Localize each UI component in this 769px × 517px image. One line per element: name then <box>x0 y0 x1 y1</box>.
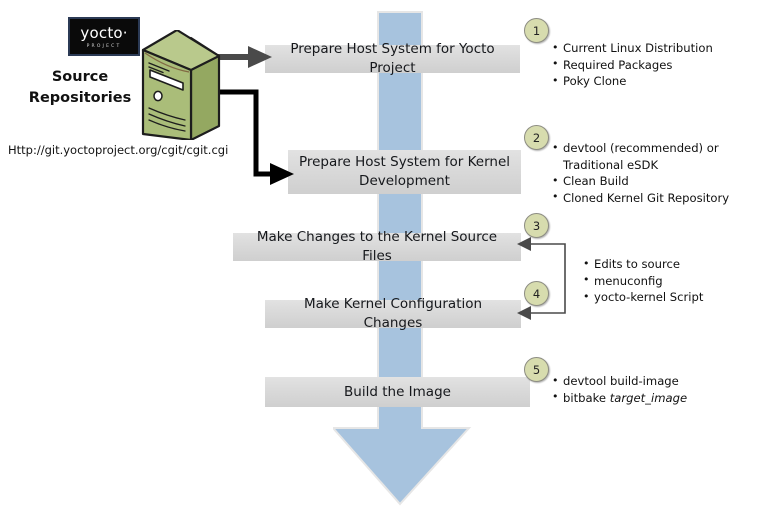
step-badge-5: 5 <box>524 357 549 382</box>
process-box-step-4[interactable]: Make Kernel Configuration Changes <box>265 300 521 328</box>
source-label-line2: Repositories <box>20 88 140 109</box>
bullet-list-step-2: devtool (recommended) or Traditional eSD… <box>552 140 757 206</box>
step-badge-3: 3 <box>524 213 549 238</box>
process-box-step-2[interactable]: Prepare Host System for Kernel Developme… <box>288 150 521 194</box>
step-badge-1: 1 <box>524 18 549 43</box>
yocto-project-logo: yocto · PROJECT <box>68 17 140 56</box>
process-box-step-5[interactable]: Build the Image <box>265 377 530 407</box>
logo-dot-icon: · <box>123 24 128 42</box>
list-item: yocto-kernel Script <box>583 289 748 306</box>
list-item: menuconfig <box>583 273 748 290</box>
source-label-line1: Source <box>20 67 140 88</box>
step-badge-4: 4 <box>524 281 549 306</box>
shared-bullets-bracket-connector <box>515 232 585 327</box>
server-tower-icon <box>133 30 225 140</box>
list-item: Clean Build <box>552 173 757 190</box>
list-item: devtool build-image <box>552 373 742 390</box>
list-item: bitbake target_image <box>552 390 742 407</box>
logo-wordmark: yocto <box>80 26 122 41</box>
source-repositories-label: Source Repositories <box>20 67 140 109</box>
logo-subtitle: PROJECT <box>87 43 122 50</box>
bullet-list-step-5: devtool build-image bitbake target_image <box>552 373 742 406</box>
list-item: Cloned Kernel Git Repository <box>552 190 757 207</box>
bullet-list-steps-3-4: Edits to source menuconfig yocto-kernel … <box>583 256 748 306</box>
bullet-list-step-1: Current Linux Distribution Required Pack… <box>552 40 752 90</box>
list-item: Current Linux Distribution <box>552 40 752 57</box>
bitbake-command-prefix: bitbake <box>563 391 610 405</box>
source-repository-url: Http://git.yoctoproject.org/cgit/cgit.cg… <box>8 143 228 157</box>
list-item: Required Packages <box>552 57 752 74</box>
list-item: Poky Clone <box>552 73 752 90</box>
diagram-canvas: yocto · PROJECT Source Repositories Http… <box>0 0 769 517</box>
process-box-step-3[interactable]: Make Changes to the Kernel Source Files <box>233 233 521 261</box>
list-item: Edits to source <box>583 256 748 273</box>
bitbake-target-argument: target_image <box>610 391 687 405</box>
list-item: devtool (recommended) or Traditional eSD… <box>552 140 757 173</box>
step-badge-2: 2 <box>524 125 549 150</box>
